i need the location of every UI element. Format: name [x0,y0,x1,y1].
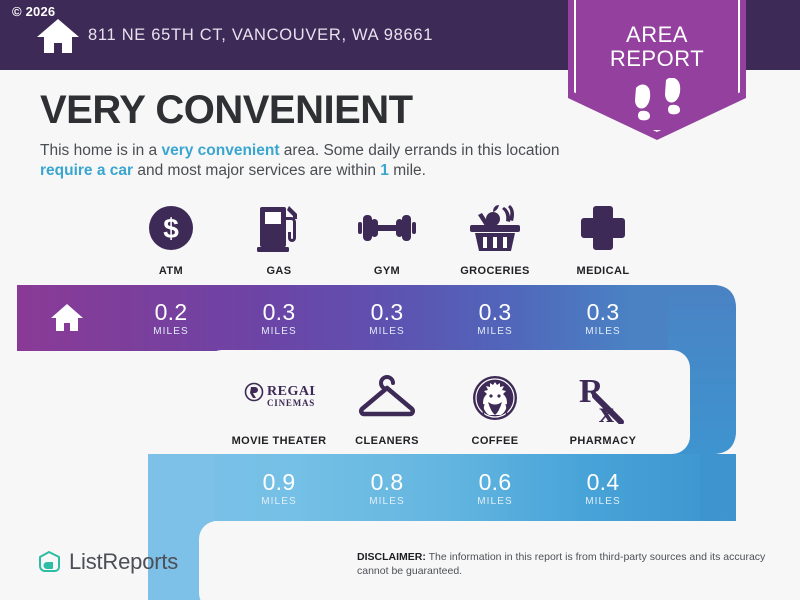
listreports-wordmark: ListReports [69,549,178,575]
amenity-groceries[interactable]: GROCERIES [441,200,549,277]
distance-unit: MILES [477,326,513,337]
amenity-label: MEDICAL [577,265,630,277]
svg-text:x: x [599,396,614,424]
icon-art [358,200,416,256]
distance-cell-medical: 0.3 MILES [549,285,657,351]
summary-part-1: This home is in a [40,142,161,159]
distance-value: 0.3 [479,300,512,324]
amenity-label: COFFEE [471,435,518,447]
dumbbell-icon [358,210,416,246]
icon-art [357,370,417,426]
distance-unit: MILES [153,326,189,337]
distance-cell-atm: 0.2 MILES [117,285,225,351]
badge-line-2: REPORT [568,46,746,72]
distance-row-primary: 0.2 MILES 0.3 MILES 0.3 MILES 0.3 MILES … [17,285,657,351]
grocery-basket-icon [468,203,522,253]
distance-value: 0.3 [587,300,620,324]
distance-value: 0.3 [263,300,296,324]
amenity-label: CLEANERS [355,435,419,447]
summary-paragraph: This home is in a very convenient area. … [40,141,560,181]
amenity-label: ATM [159,265,183,277]
distance-unit: MILES [369,326,405,337]
summary-part-4: mile. [389,162,426,179]
amenity-label: PHARMACY [570,435,637,447]
icon-art [468,200,522,256]
ribbon-home-marker [17,285,117,351]
distance-cell-gas: 0.3 MILES [225,285,333,351]
amenity-label: GAS [266,265,291,277]
clothes-hanger-icon [357,375,417,421]
medical-cross-icon [579,204,627,252]
regal-cinemas-icon: REGAL CINEMAS [243,381,315,415]
amenity-cleaners[interactable]: CLEANERS [333,370,441,447]
footprints-icon [630,78,686,122]
distance-cell-cleaners: 0.8 MILES [333,455,441,521]
badge-line-1: AREA [568,22,746,48]
distance-unit: MILES [477,496,513,507]
distance-unit: MILES [585,326,621,337]
icon-art [579,200,627,256]
home-icon [50,303,84,333]
amenity-gym[interactable]: GYM [333,200,441,277]
distance-row-secondary: 0.9 MILES 0.8 MILES 0.6 MILES 0.4 MILES [225,455,657,521]
distance-value: 0.9 [263,470,296,494]
icon-art [256,200,302,256]
icon-art: R x [577,370,629,426]
distance-cell-groceries: 0.3 MILES [441,285,549,351]
amenity-gas[interactable]: GAS [225,200,333,277]
amenity-atm[interactable]: $ ATM [117,200,225,277]
amenity-label: GYM [374,265,400,277]
home-icon [36,17,80,55]
svg-text:CINEMAS: CINEMAS [267,398,315,408]
dollar-circle-icon: $ [147,204,195,252]
summary-highlight-2: require a car [40,162,133,179]
amenity-medical[interactable]: MEDICAL [549,200,657,277]
page-title: VERY CONVENIENT [40,88,413,133]
distance-unit: MILES [261,326,297,337]
icon-art: $ [147,200,195,256]
listreports-logo[interactable]: ListReports [38,549,178,575]
starbucks-icon [471,374,519,422]
property-address: 811 NE 65TH CT, VANCOUVER, WA 98661 [88,26,433,45]
rx-icon: R x [577,372,629,424]
distance-cell-gym: 0.3 MILES [333,285,441,351]
distance-cell-movie-theater: 0.9 MILES [225,455,333,521]
distance-value: 0.2 [155,300,188,324]
amenity-icon-row-secondary: REGAL CINEMAS MOVIE THEATER CLEANERS [225,370,657,447]
distance-value: 0.8 [371,470,404,494]
distance-value: 0.6 [479,470,512,494]
disclaimer: DISCLAIMER: The information in this repo… [357,551,777,578]
amenity-icon-row-primary: $ ATM GAS [117,200,657,277]
amenity-coffee[interactable]: COFFEE [441,370,549,447]
area-report-page: © 2026 811 NE 65TH CT, VANCOUVER, WA 986… [0,0,800,600]
distance-cell-coffee: 0.6 MILES [441,455,549,521]
amenity-pharmacy[interactable]: R x PHARMACY [549,370,657,447]
distance-value: 0.3 [371,300,404,324]
summary-highlight-3: 1 [380,162,389,179]
distance-value: 0.4 [587,470,620,494]
gas-pump-icon [256,203,302,253]
distance-unit: MILES [585,496,621,507]
summary-part-3: and most major services are within [133,162,380,179]
svg-text:REGAL: REGAL [267,384,315,399]
amenity-movie-theater[interactable]: REGAL CINEMAS MOVIE THEATER [225,370,333,447]
summary-highlight-1: very convenient [161,142,279,159]
summary-part-2: area. Some daily errands in this locatio… [280,142,560,159]
amenity-label: GROCERIES [460,265,530,277]
icon-art [471,370,519,426]
icon-art: REGAL CINEMAS [243,370,315,426]
svg-text:$: $ [163,213,179,244]
amenity-label: MOVIE THEATER [232,435,327,447]
distance-unit: MILES [261,496,297,507]
listreports-house-pin-icon [38,550,62,574]
disclaimer-label: DISCLAIMER: [357,551,426,563]
distance-cell-pharmacy: 0.4 MILES [549,455,657,521]
distance-unit: MILES [369,496,405,507]
